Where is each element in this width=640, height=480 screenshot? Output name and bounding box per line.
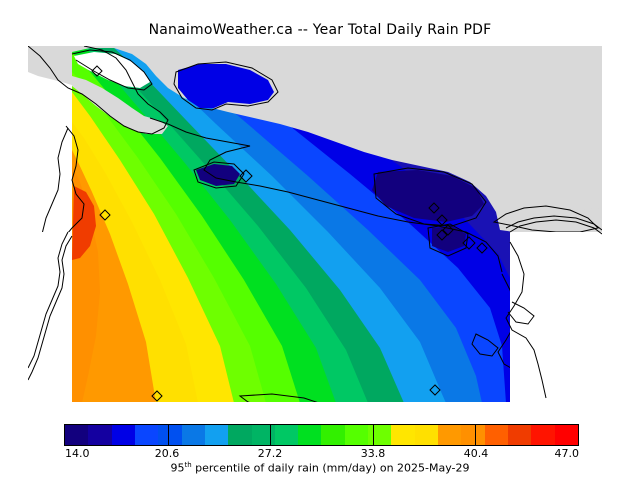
colorbar-segment-1 [88, 425, 111, 445]
colorbar-segment-13 [368, 425, 391, 445]
colorbar-segment-6 [205, 425, 228, 445]
map-panel[interactable] [28, 46, 602, 402]
colorbar-gradient[interactable] [64, 424, 579, 446]
colorbar-tick-2 [270, 425, 271, 445]
page-title: NanaimoWeather.ca -- Year Total Daily Ra… [0, 22, 640, 38]
colorbar-segment-14 [391, 425, 414, 445]
colorbar-segment-2 [112, 425, 135, 445]
colorbar-tick-4 [475, 425, 476, 445]
colorbar-tick-1 [168, 425, 169, 445]
colorbar-segment-3 [135, 425, 158, 445]
colorbar-tick-label-4: 40.4 [464, 447, 489, 460]
colorbar-segment-20 [531, 425, 554, 445]
colorbar-segment-0 [65, 425, 88, 445]
colorbar-caption: 95th percentile of daily rain (mm/day) o… [0, 461, 640, 475]
colorbar-segment-19 [508, 425, 531, 445]
colorbar-tick-label-3: 33.8 [361, 447, 386, 460]
colorbar-tick-label-2: 27.2 [258, 447, 283, 460]
colorbar-segment-21 [555, 425, 578, 445]
colorbar-segment-9 [275, 425, 298, 445]
contour-map[interactable] [28, 46, 602, 402]
colorbar-tick-label-0: 14.0 [65, 447, 90, 460]
colorbar-segment-15 [415, 425, 438, 445]
colorbar-segment-5 [182, 425, 205, 445]
colorbar-segment-18 [485, 425, 508, 445]
colorbar-segment-17 [461, 425, 484, 445]
colorbar-tick-label-1: 20.6 [155, 447, 180, 460]
colorbar-segment-16 [438, 425, 461, 445]
colorbar-tick-label-5: 47.0 [555, 447, 580, 460]
colorbar[interactable] [64, 424, 579, 446]
colorbar-segment-8 [252, 425, 275, 445]
colorbar-tick-3 [373, 425, 374, 445]
colorbar-segment-4 [158, 425, 181, 445]
colorbar-segment-10 [298, 425, 321, 445]
caption-rest: percentile of daily rain (mm/day) on 202… [192, 462, 470, 475]
weather-map-page: NanaimoWeather.ca -- Year Total Daily Ra… [0, 0, 640, 480]
caption-superscript: th [184, 461, 191, 469]
caption-prefix: 95 [170, 462, 184, 475]
colorbar-segment-11 [321, 425, 344, 445]
colorbar-segment-7 [228, 425, 251, 445]
colorbar-segment-12 [345, 425, 368, 445]
